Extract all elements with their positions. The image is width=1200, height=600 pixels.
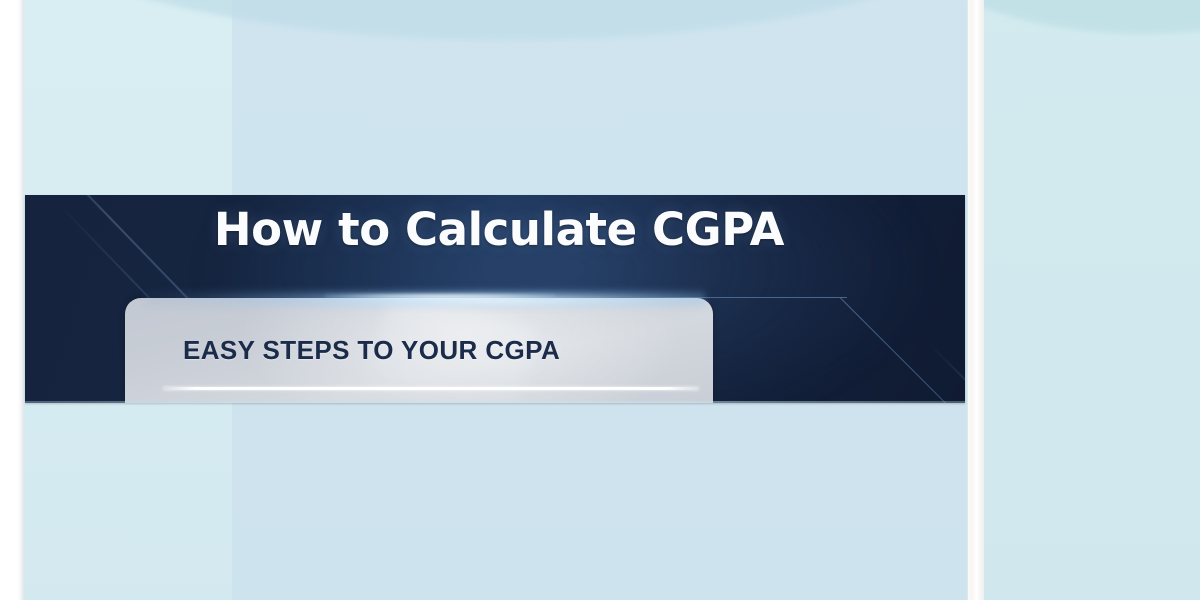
- subtitle-underline-rule: [163, 387, 699, 390]
- banner-bottom-highlight: [25, 401, 965, 403]
- subtitle-card: EASY STEPS TO YOUR CGPA: [125, 298, 713, 403]
- cgpa-title-banner: How to Calculate CGPA EASY STEPS TO YOUR…: [25, 195, 965, 403]
- right-panel-top-arc: [982, 0, 1200, 34]
- right-page-panel: [982, 0, 1200, 600]
- panel-seam-divider: [966, 0, 984, 600]
- banner-heading: How to Calculate CGPA: [25, 203, 965, 256]
- subtitle-text: EASY STEPS TO YOUR CGPA: [183, 335, 560, 366]
- slide-canvas: How to Calculate CGPA EASY STEPS TO YOUR…: [0, 0, 1200, 600]
